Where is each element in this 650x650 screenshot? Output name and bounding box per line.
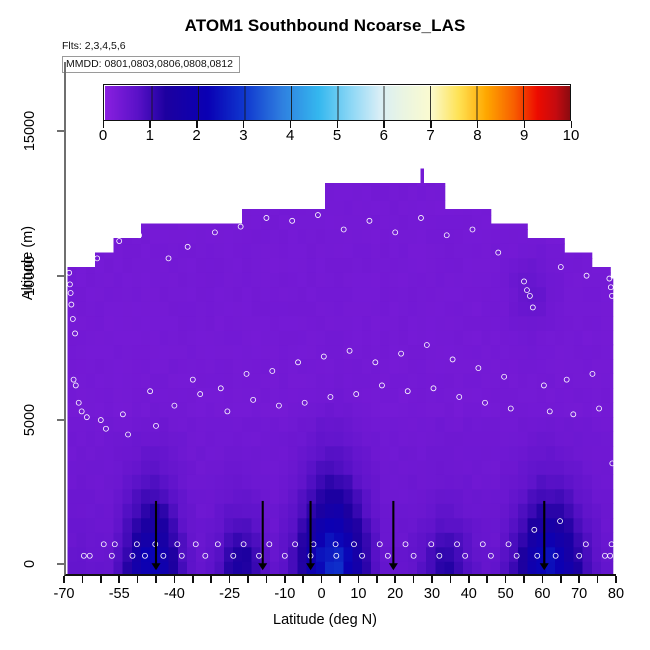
x-axis-tick-label: 50 xyxy=(498,586,514,602)
y-axis-tick xyxy=(57,419,64,421)
x-axis-tick xyxy=(358,576,360,583)
x-axis-tick xyxy=(229,576,231,583)
y-axis-tick xyxy=(57,563,64,565)
flights-label: Flts: 2,3,4,5,6 xyxy=(62,40,126,52)
x-axis-tick xyxy=(376,576,378,583)
colorbar-tick-label: 10 xyxy=(563,127,580,144)
x-axis-tick xyxy=(302,576,304,583)
x-axis-tick xyxy=(266,576,268,583)
colorbar-tick-label: 9 xyxy=(520,127,528,144)
x-axis-tick xyxy=(560,576,562,583)
x-axis-tick xyxy=(137,576,139,583)
x-axis-tick xyxy=(468,576,470,583)
x-axis-tick xyxy=(505,576,507,583)
colorbar-tick-label: 5 xyxy=(333,127,341,144)
x-axis-tick-label: -70 xyxy=(54,586,75,602)
x-axis-tick xyxy=(394,576,396,583)
x-axis-tick-label: -10 xyxy=(274,586,295,602)
y-axis-tick-label: 10000 xyxy=(8,246,52,306)
x-axis-label: Latitude (deg N) xyxy=(0,612,650,628)
y-axis-tick xyxy=(57,275,64,277)
colorbar-tick-label: 7 xyxy=(426,127,434,144)
x-axis-tick xyxy=(413,576,415,583)
colorbar-gradient xyxy=(105,86,570,120)
x-axis-tick-label: 20 xyxy=(387,586,403,602)
x-axis-tick xyxy=(597,576,599,583)
x-axis-tick-label: 60 xyxy=(534,586,550,602)
x-axis-tick xyxy=(155,576,157,583)
x-axis-tick xyxy=(247,576,249,583)
x-axis-tick xyxy=(118,576,120,583)
colorbar-tick-labels: 012345678910 xyxy=(0,127,650,147)
colorbar-tick-label: 3 xyxy=(239,127,247,144)
x-axis-tick-label: 80 xyxy=(608,586,624,602)
x-axis-tick-label: 30 xyxy=(424,586,440,602)
x-axis-tick-label: 40 xyxy=(461,586,477,602)
x-axis-tick-label: -40 xyxy=(164,586,185,602)
x-axis-tick xyxy=(615,576,617,583)
x-axis-tick xyxy=(523,576,525,583)
x-axis-tick xyxy=(284,576,286,583)
x-axis-tick xyxy=(174,576,176,583)
colorbar-tick-label: 0 xyxy=(99,127,107,144)
x-axis-tick xyxy=(486,576,488,583)
colorbar-tick-label: 2 xyxy=(192,127,200,144)
x-axis-tick xyxy=(82,576,84,583)
y-axis-tick-label: 15000 xyxy=(8,101,52,161)
page-title: ATOM1 Southbound Ncoarse_LAS xyxy=(0,16,650,36)
x-axis-tick-label: 0 xyxy=(318,586,326,602)
x-axis-tick-label: 70 xyxy=(571,586,587,602)
colorbar-tick-label: 1 xyxy=(146,127,154,144)
y-axis-tick xyxy=(57,130,64,132)
colorbar-tick-label: 4 xyxy=(286,127,294,144)
x-axis-tick xyxy=(210,576,212,583)
y-axis-tick-label: 0 xyxy=(8,534,52,594)
colorbar-tick-label: 8 xyxy=(473,127,481,144)
x-axis-tick-label: -25 xyxy=(219,586,240,602)
x-axis-tick xyxy=(192,576,194,583)
x-axis-tick-label: -55 xyxy=(109,586,130,602)
x-axis-tick-label: 10 xyxy=(350,586,366,602)
x-axis-tick xyxy=(100,576,102,583)
x-axis-tick xyxy=(321,576,323,583)
x-axis-tick xyxy=(542,576,544,583)
x-axis-tick xyxy=(450,576,452,583)
x-axis-tick xyxy=(339,576,341,583)
x-axis-tick xyxy=(431,576,433,583)
x-axis-tick xyxy=(578,576,580,583)
colorbar-tick-label: 6 xyxy=(380,127,388,144)
y-axis-tick-label: 5000 xyxy=(8,390,52,450)
x-axis-tick xyxy=(63,576,65,583)
